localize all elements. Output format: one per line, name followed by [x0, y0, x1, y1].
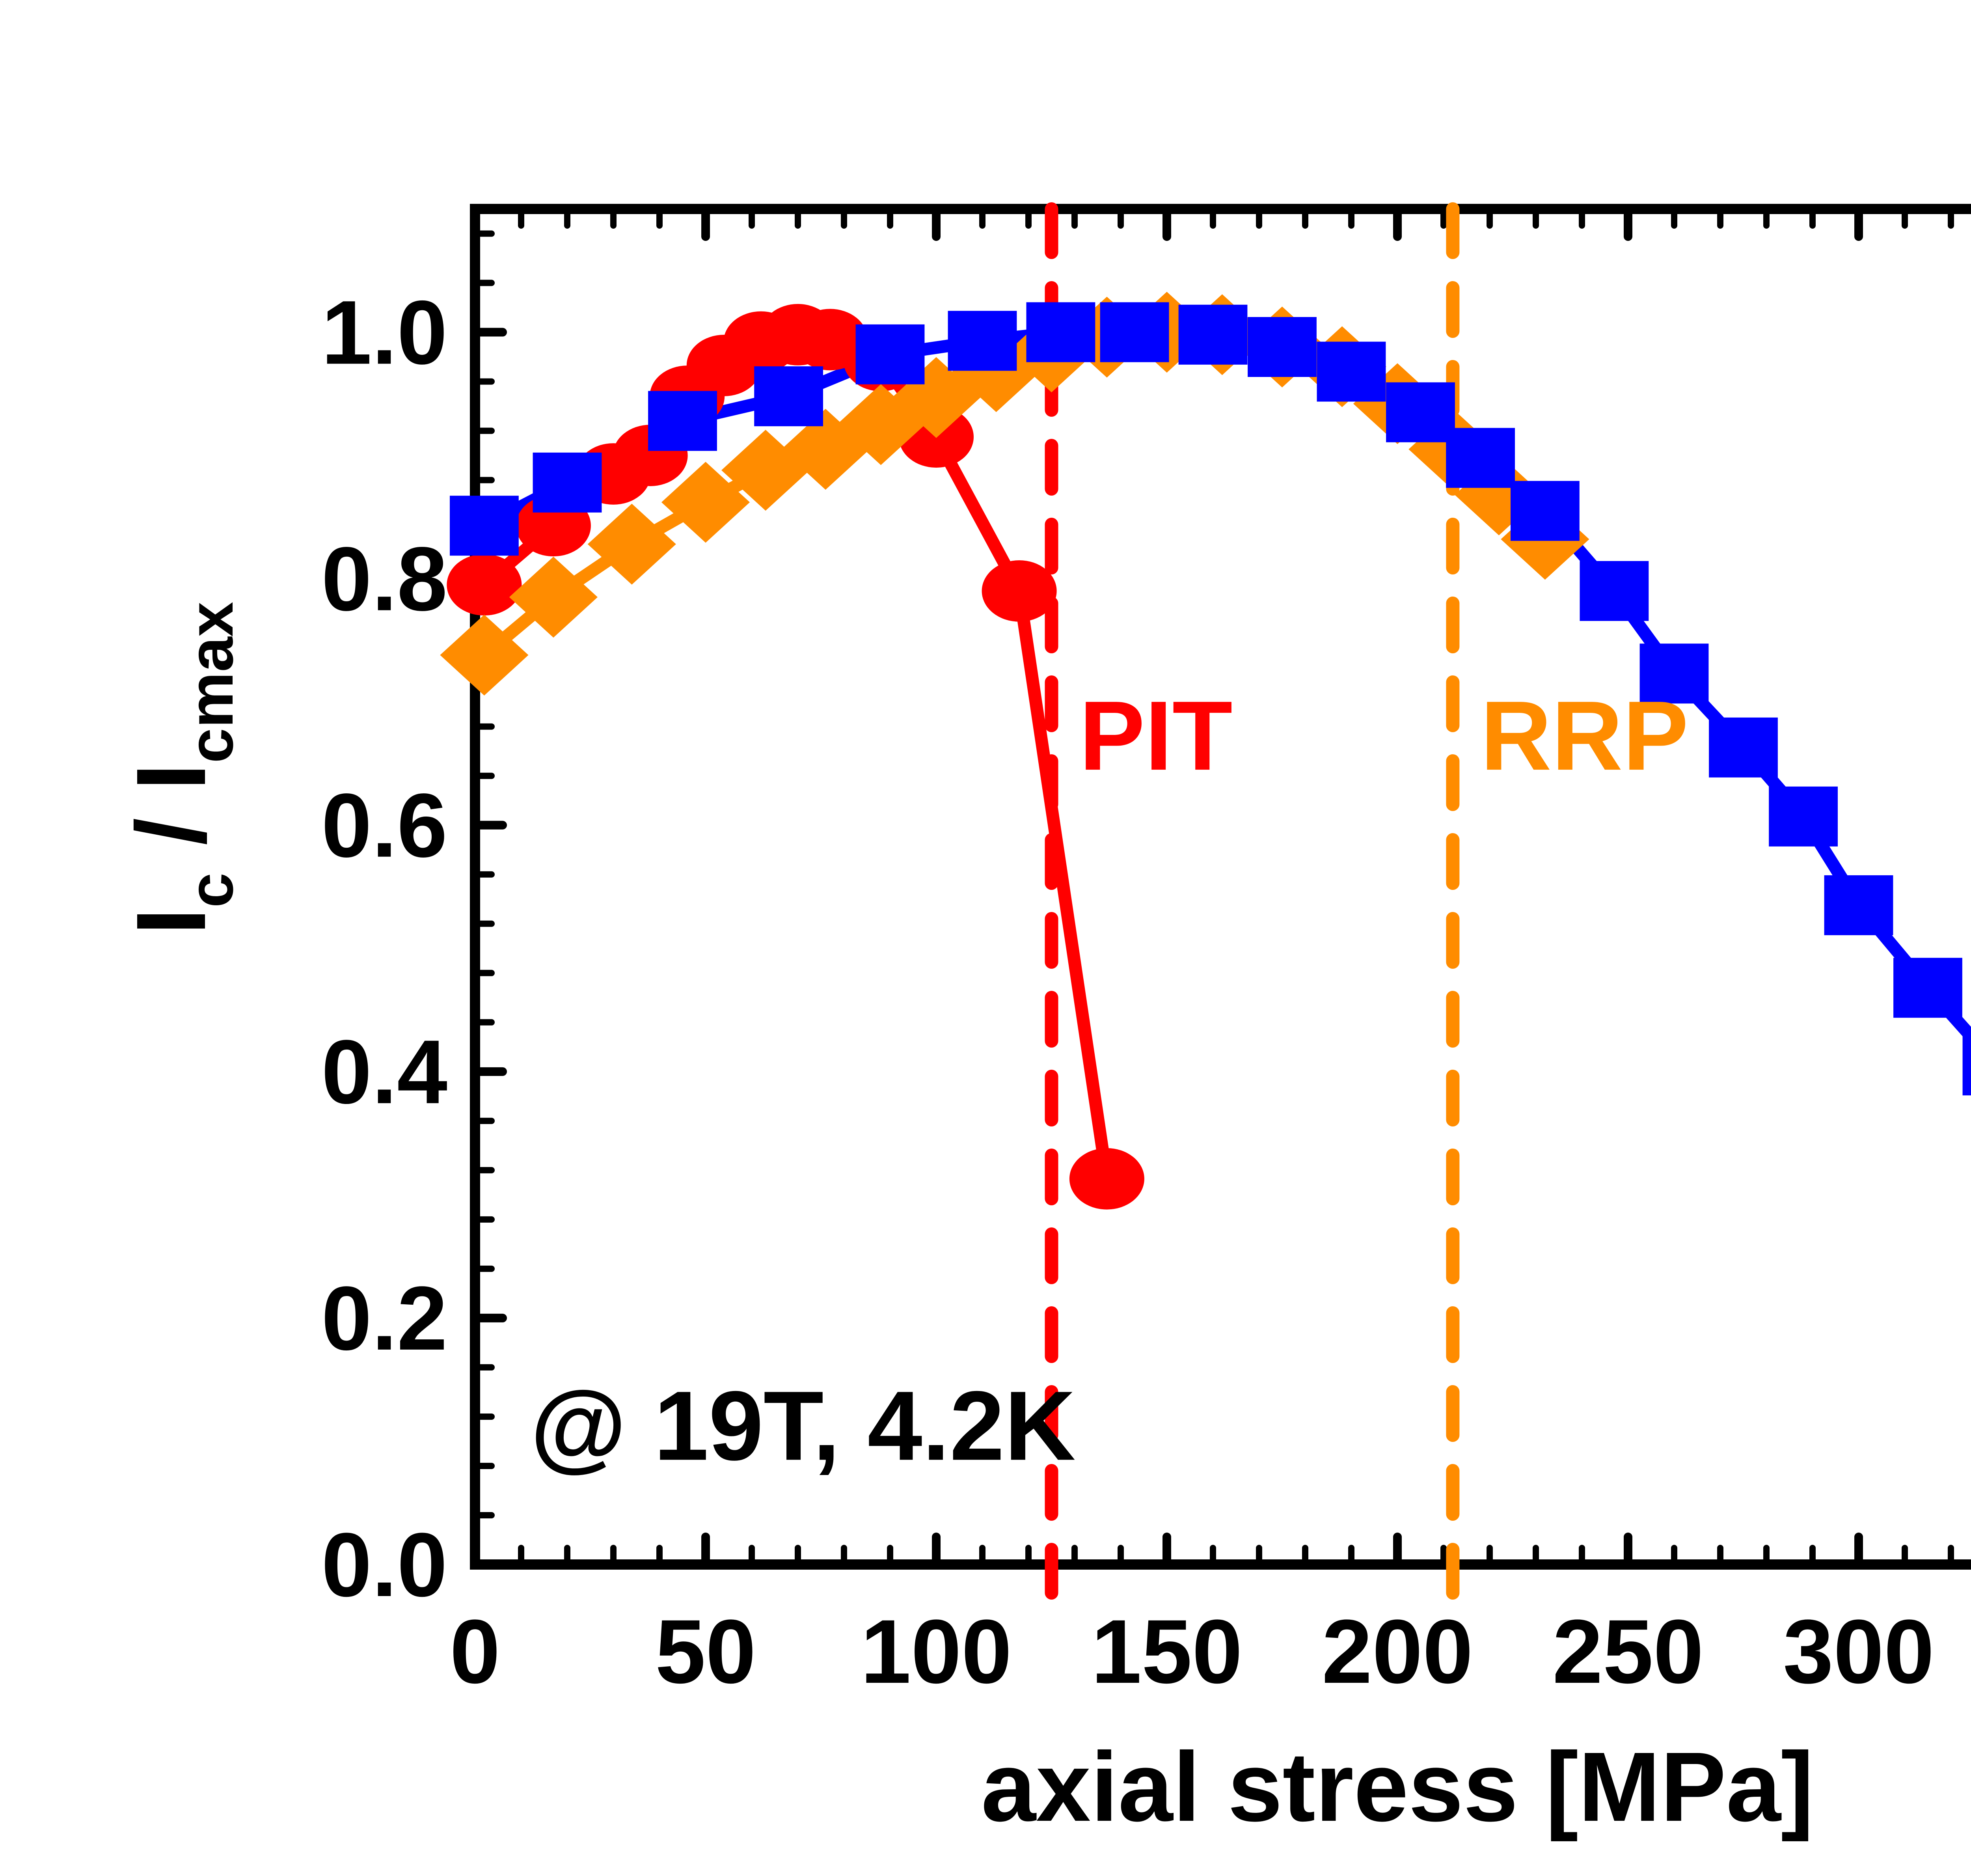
data-point-bronze	[754, 366, 823, 426]
x-tick-label: 50	[655, 1601, 756, 1702]
data-point-bronze	[1026, 302, 1095, 362]
data-point-bronze	[948, 311, 1017, 371]
data-point-pit	[982, 560, 1057, 622]
data-point-bronze	[1824, 875, 1893, 935]
data-point-bronze	[1317, 342, 1386, 402]
data-point-bronze	[1179, 305, 1248, 365]
x-tick-label: 200	[1322, 1601, 1473, 1702]
data-point-bronze	[1100, 302, 1169, 362]
data-point-bronze	[1248, 317, 1317, 377]
x-axis-title: axial stress [MPa]	[981, 1732, 1814, 1842]
data-point-pit	[447, 554, 522, 615]
data-point-pit	[1069, 1148, 1144, 1210]
y-tick-label: 0.4	[321, 1021, 447, 1123]
data-point-bronze	[1709, 718, 1778, 778]
data-point-bronze	[1769, 787, 1838, 847]
data-point-bronze	[648, 391, 717, 451]
y-tick-label: 1.0	[321, 282, 447, 383]
x-tick-label: 0	[450, 1601, 500, 1702]
condition-note: @ 19T, 4.2K	[530, 1371, 1075, 1481]
annotation-label-rrp: RRP	[1481, 681, 1689, 791]
data-point-bronze	[533, 453, 602, 513]
y-tick-label: 0.6	[321, 775, 447, 876]
x-tick-label: 300	[1783, 1601, 1934, 1702]
data-point-bronze	[1386, 382, 1455, 442]
data-point-bronze	[1446, 428, 1515, 488]
x-tick-label: 100	[861, 1601, 1012, 1702]
data-point-bronze	[856, 324, 925, 384]
annotation-label-pit: PIT	[1079, 681, 1233, 791]
chart-figure: 0501001502002503003504000.00.20.40.60.81…	[0, 0, 1971, 1876]
y-tick-label: 0.8	[321, 528, 447, 630]
y-tick-label: 0.0	[321, 1514, 447, 1615]
y-tick-label: 0.2	[321, 1268, 447, 1369]
data-point-bronze	[1893, 958, 1962, 1018]
figure-background	[0, 0, 1971, 1876]
data-point-bronze	[1963, 1035, 1971, 1095]
data-point-bronze	[1580, 561, 1649, 621]
data-point-bronze	[1511, 481, 1580, 541]
icic-vs-axial-stress-chart: 0501001502002503003504000.00.20.40.60.81…	[0, 0, 1971, 1876]
data-point-bronze	[450, 496, 519, 556]
x-tick-label: 250	[1552, 1601, 1704, 1702]
x-tick-label: 150	[1091, 1601, 1243, 1702]
